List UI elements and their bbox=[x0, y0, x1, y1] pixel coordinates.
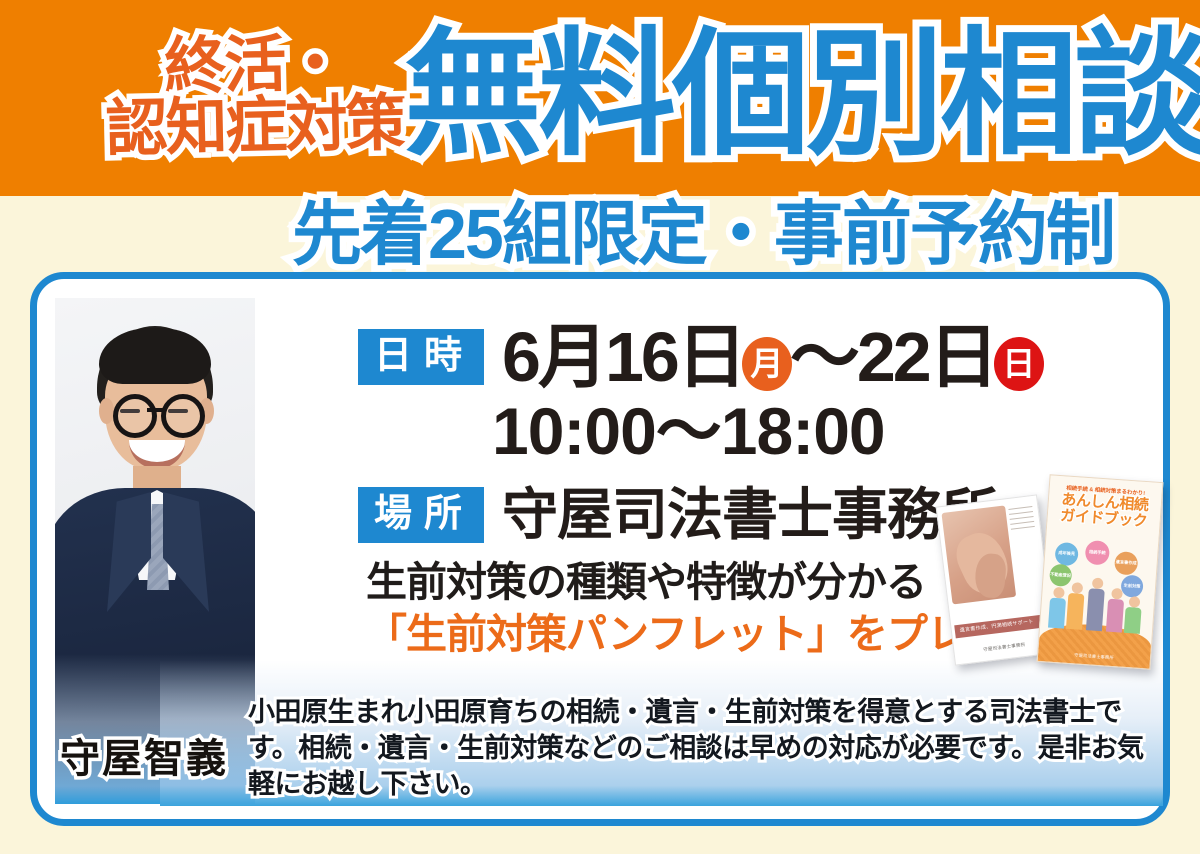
weekday-badge-monday: 月 bbox=[742, 337, 792, 391]
glasses-icon-right bbox=[161, 394, 205, 438]
person-name: 守屋智義 bbox=[60, 726, 228, 784]
time-value: 10:00〜18:00 bbox=[492, 398, 885, 464]
place-row: 場所 守屋司法書士事務所 bbox=[358, 487, 997, 543]
pamphlet-right: 相続手続 & 相続対策まるわかり! あんしん相続 ガイドブック 成年後見 相続手… bbox=[1037, 474, 1164, 669]
bubble-1: 成年後見 bbox=[1054, 542, 1079, 567]
photo-fringe bbox=[99, 328, 211, 384]
pamphlet-images: 遺言書作成、円満相続サポート 守屋司法書士事務所 相続手続 & 相続対策まるわか… bbox=[945, 478, 1160, 683]
date-range-mark: 〜 bbox=[790, 318, 857, 396]
pamphlet-left-band-text: 遺言書作成、円満相続サポート bbox=[954, 614, 1049, 638]
hands-icon-second bbox=[974, 552, 1008, 598]
photo-ear-left bbox=[99, 398, 114, 424]
page-title: 無料個別相談 bbox=[404, 14, 1200, 177]
place-label: 場所 bbox=[358, 487, 484, 543]
header-kicker: 終活・ 認知症対策 bbox=[98, 19, 411, 175]
glasses-bridge bbox=[147, 408, 165, 412]
weekday-badge-sunday: 日 bbox=[994, 337, 1044, 391]
family-figure-2 bbox=[1066, 582, 1085, 630]
promo-block: 生前対策の種類や特徴が分かる 「生前対策パンフレット」をプレゼント! bbox=[366, 556, 966, 661]
date-label: 日時 bbox=[358, 329, 484, 385]
family-figure-4 bbox=[1106, 588, 1125, 633]
pamphlet-left-textlines bbox=[1008, 506, 1035, 534]
date-value: 6月16日月〜22日日 bbox=[502, 322, 1042, 392]
family-figure-3 bbox=[1086, 577, 1106, 631]
promo-line-2: 「生前対策パンフレット」をプレゼント! bbox=[366, 608, 966, 660]
kicker-line-1: 終活・ bbox=[164, 34, 345, 99]
person-bio: 小田原生まれ小田原育ちの相続・遺言・生前対策を得意とする司法書士です。相続・遺言… bbox=[248, 694, 1168, 803]
bubble-2: 相続手続 bbox=[1085, 540, 1111, 566]
poster-root: 終活・ 認知症対策 無料個別相談 先着25組限定・事前予約制 日時 6月16日月… bbox=[0, 0, 1200, 854]
family-illustration bbox=[1048, 566, 1148, 635]
family-figure-1 bbox=[1048, 587, 1067, 629]
date-month: 6月 bbox=[502, 318, 605, 396]
sub-banner: 先着25組限定・事前予約制 bbox=[292, 193, 1114, 276]
glasses-icon-left bbox=[113, 394, 157, 438]
promo-line-1: 生前対策の種類や特徴が分かる bbox=[366, 556, 966, 608]
pamphlet-left-photo bbox=[941, 505, 1016, 604]
pamphlet-left-band: 遺言書作成、円満相続サポート bbox=[954, 614, 1049, 638]
family-figure-5 bbox=[1124, 596, 1143, 634]
date-end-day: 22日 bbox=[857, 318, 996, 396]
place-value: 守屋司法書士事務所 bbox=[502, 487, 997, 543]
kicker-line-2: 認知症対策 bbox=[105, 94, 406, 161]
date-row: 日時 6月16日月〜22日日 bbox=[358, 322, 1042, 392]
date-start-day: 16日 bbox=[605, 318, 744, 396]
